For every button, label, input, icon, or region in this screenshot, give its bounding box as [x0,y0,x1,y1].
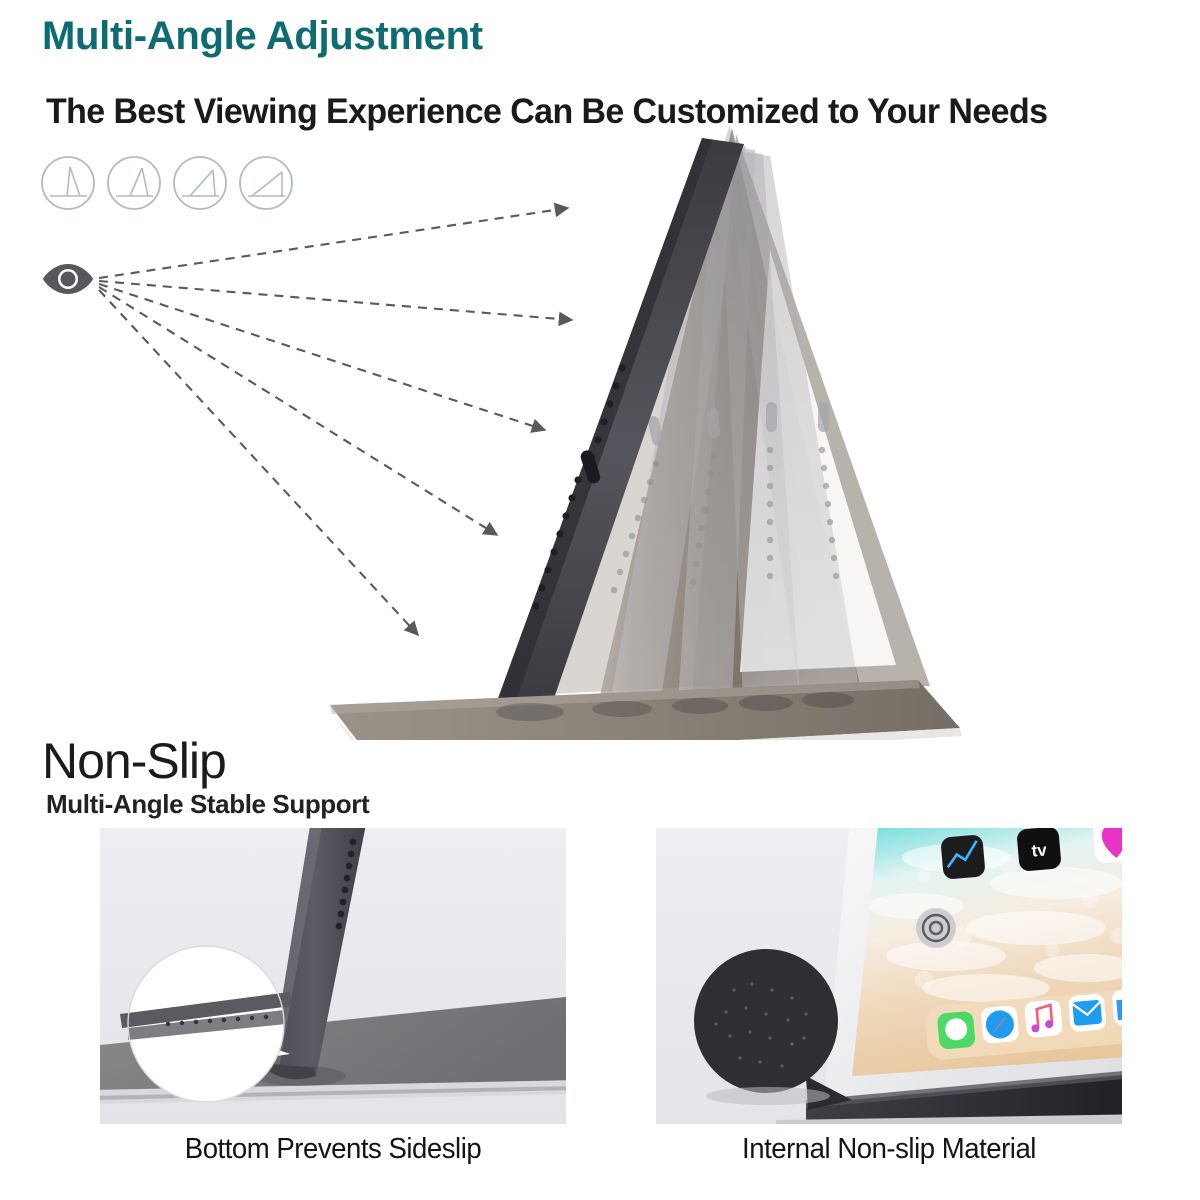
app-icon-stocks[interactable] [940,834,986,880]
eye-icon [42,262,94,296]
app-icon-appletv[interactable]: tv [1016,828,1062,872]
caption-internal-nonslip-material: Internal Non-slip Material [668,1133,1111,1166]
dock-icon-mail[interactable] [1068,993,1107,1032]
app-icon-photos[interactable] [1092,828,1122,864]
angle-icon-shallow [238,155,294,211]
multi-angle-stand-illustration [300,120,1000,740]
panel-bottom-prevents-sideslip [100,828,566,1124]
dock-icon-music[interactable] [1024,999,1063,1038]
nonslip-subtitle: Multi-Angle Stable Support [46,789,369,820]
ipad-device: tv [824,828,1122,1100]
app-icon-clips[interactable] [916,908,956,948]
angle-icon-row [40,155,294,211]
nonslip-title: Non-Slip [42,732,226,790]
angle-icon-steep [106,155,162,211]
page-title: Multi-Angle Adjustment [42,14,483,59]
ipad-screen: tv [846,828,1122,1088]
svg-text:tv: tv [1031,840,1048,860]
angle-icon-steepest [40,155,96,211]
angle-icon-medium [172,155,228,211]
swatch-shadow [706,1087,830,1105]
caption-bottom-prevents-sideslip: Bottom Prevents Sideslip [112,1133,555,1166]
dock-icon-messages[interactable] [937,1011,976,1050]
dock-icon-safari[interactable] [980,1005,1019,1044]
panel-internal-nonslip-material: tv [656,828,1122,1124]
